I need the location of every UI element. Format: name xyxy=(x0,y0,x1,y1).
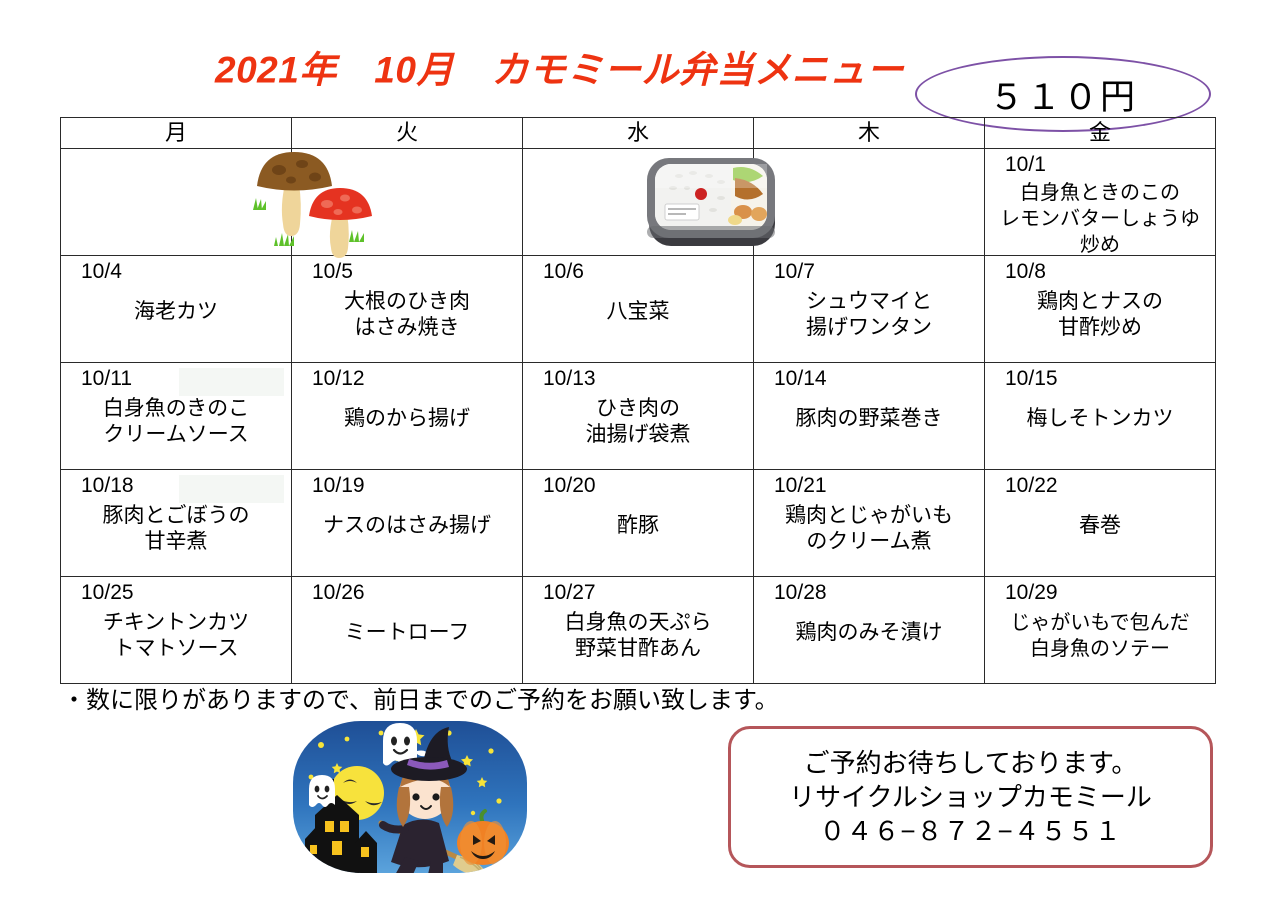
calendar-cell: 10/8 鶏肉とナスの 甘酢炒め xyxy=(985,256,1216,363)
contact-line-1: ご予約お待ちしております。 xyxy=(804,746,1138,780)
week-row: 10/4 海老カツ 10/5 大根のひき肉 はさみ焼き 10/6 八宝菜 10/… xyxy=(61,256,1216,363)
cell-date: 10/6 xyxy=(529,259,747,285)
week-row: 10/18 豚肉とごぼうの 甘辛煮 10/19 ナスのはさみ揚げ 10/20 酢… xyxy=(61,470,1216,577)
cell-date: 10/22 xyxy=(991,473,1209,499)
cell-date: 10/19 xyxy=(298,473,516,499)
weekday-header-mon: 月 xyxy=(61,118,292,149)
calendar-cell: 10/26 ミートローフ xyxy=(292,577,523,684)
calendar-cell xyxy=(523,149,754,256)
cell-dish: 海老カツ xyxy=(67,299,285,325)
week-row: 10/25 チキントンカツ トマトソース 10/26 ミートローフ 10/27 … xyxy=(61,577,1216,684)
calendar-cell: 10/6 八宝菜 xyxy=(523,256,754,363)
calendar-cell: 10/29 じゃがいもで包んだ 白身魚のソテー xyxy=(985,577,1216,684)
reservation-contact-box: ご予約お待ちしております。 リサイクルショップカモミール ０４６−８７２−４５５… xyxy=(728,726,1213,868)
cell-date: 10/15 xyxy=(991,366,1209,392)
calendar-cell: 10/5 大根のひき肉 はさみ焼き xyxy=(292,256,523,363)
cell-date: 10/20 xyxy=(529,473,747,499)
calendar-cell xyxy=(754,149,985,256)
calendar-cell: 10/13 ひき肉の 油揚げ袋煮 xyxy=(523,363,754,470)
calendar-cell: 10/25 チキントンカツ トマトソース xyxy=(61,577,292,684)
empty-textbox-artifact xyxy=(179,368,284,396)
halloween-illustration xyxy=(285,717,535,877)
cell-dish: 八宝菜 xyxy=(529,299,747,325)
cell-date: 10/4 xyxy=(67,259,285,285)
cell-date: 10/25 xyxy=(67,580,285,606)
cell-dish: 鶏のから揚げ xyxy=(298,406,516,432)
cell-date: 10/29 xyxy=(991,580,1209,606)
week-row: 10/11 白身魚のきのこ クリームソース 10/12 鶏のから揚げ 10/13… xyxy=(61,363,1216,470)
contact-line-2: リサイクルショップカモミール xyxy=(789,780,1152,814)
calendar-cell xyxy=(292,149,523,256)
calendar-cell: 10/21 鶏肉とじゃがいも のクリーム煮 xyxy=(754,470,985,577)
availability-note: ・数に限りがありますので、前日までのご予約をお願い致します。 xyxy=(62,686,779,716)
title-bar: 2021年 10月 カモミール弁当メニュー ５１０円 xyxy=(0,32,1280,102)
cell-date: 10/7 xyxy=(760,259,978,285)
cell-dish: 鶏肉とナスの 甘酢炒め xyxy=(991,289,1209,341)
cell-dish: じゃがいもで包んだ 白身魚のソテー xyxy=(991,610,1209,662)
cell-dish: 豚肉の野菜巻き xyxy=(760,406,978,432)
weekday-header-row: 月 火 水 木 金 xyxy=(61,118,1216,149)
cell-dish: 豚肉とごぼうの 甘辛煮 xyxy=(67,503,285,555)
cell-dish: 春巻 xyxy=(991,513,1209,539)
calendar-cell: 10/20 酢豚 xyxy=(523,470,754,577)
weekday-header-fri: 金 xyxy=(985,118,1216,149)
calendar-cell: 10/18 豚肉とごぼうの 甘辛煮 xyxy=(61,470,292,577)
cell-dish: シュウマイと 揚げワンタン xyxy=(760,289,978,341)
cell-dish: 鶏肉のみそ漬け xyxy=(760,620,978,646)
cell-dish: ナスのはさみ揚げ xyxy=(298,513,516,539)
cell-date: 10/8 xyxy=(991,259,1209,285)
menu-calendar: 月 火 水 木 金 10/1 白身魚ときのこの レモンバターしょうゆ 炒め xyxy=(60,117,1216,684)
cell-date: 10/28 xyxy=(760,580,978,606)
cell-date: 10/21 xyxy=(760,473,978,499)
calendar-cell: 10/28 鶏肉のみそ漬け xyxy=(754,577,985,684)
cell-dish: チキントンカツ トマトソース xyxy=(67,610,285,662)
calendar-cell: 10/19 ナスのはさみ揚げ xyxy=(292,470,523,577)
calendar-cell: 10/27 白身魚の天ぷら 野菜甘酢あん xyxy=(523,577,754,684)
weekday-header-tue: 火 xyxy=(292,118,523,149)
weekday-header-thu: 木 xyxy=(754,118,985,149)
calendar-cell: 10/7 シュウマイと 揚げワンタン xyxy=(754,256,985,363)
cell-dish: 白身魚の天ぷら 野菜甘酢あん xyxy=(529,610,747,662)
cell-date: 10/1 xyxy=(991,152,1209,178)
cell-dish: 酢豚 xyxy=(529,513,747,539)
contact-phone-number: ０４６−８７２−４５５１ xyxy=(819,814,1121,848)
page-title: 2021年 10月 カモミール弁当メニュー xyxy=(215,52,904,89)
calendar-cell: 10/11 白身魚のきのこ クリームソース xyxy=(61,363,292,470)
week-row: 10/1 白身魚ときのこの レモンバターしょうゆ 炒め xyxy=(61,149,1216,256)
cell-dish: 鶏肉とじゃがいも のクリーム煮 xyxy=(760,503,978,555)
cell-dish: 白身魚ときのこの レモンバターしょうゆ 炒め xyxy=(991,180,1209,258)
cell-date: 10/14 xyxy=(760,366,978,392)
calendar-cell: 10/14 豚肉の野菜巻き xyxy=(754,363,985,470)
calendar-cell: 10/12 鶏のから揚げ xyxy=(292,363,523,470)
cell-dish: 大根のひき肉 はさみ焼き xyxy=(298,289,516,341)
cell-dish: ミートローフ xyxy=(298,620,516,646)
cell-date: 10/26 xyxy=(298,580,516,606)
weekday-header-wed: 水 xyxy=(523,118,754,149)
calendar-cell xyxy=(61,149,292,256)
cell-date: 10/13 xyxy=(529,366,747,392)
calendar-cell: 10/22 春巻 xyxy=(985,470,1216,577)
ghost-icon xyxy=(309,775,335,807)
cell-dish: 梅しそトンカツ xyxy=(991,406,1209,432)
calendar-cell: 10/15 梅しそトンカツ xyxy=(985,363,1216,470)
calendar-cell: 10/1 白身魚ときのこの レモンバターしょうゆ 炒め xyxy=(985,149,1216,256)
empty-textbox-artifact xyxy=(179,475,284,503)
cell-dish: ひき肉の 油揚げ袋煮 xyxy=(529,396,747,448)
cell-date: 10/27 xyxy=(529,580,747,606)
cell-date: 10/12 xyxy=(298,366,516,392)
cell-dish: 白身魚のきのこ クリームソース xyxy=(67,396,285,448)
calendar-cell: 10/4 海老カツ xyxy=(61,256,292,363)
cell-date: 10/5 xyxy=(298,259,516,285)
